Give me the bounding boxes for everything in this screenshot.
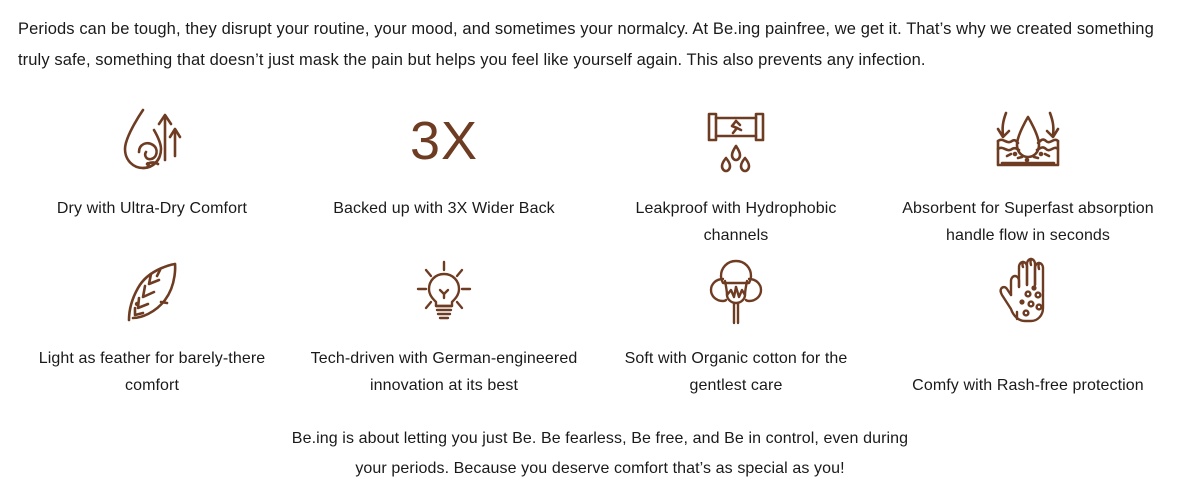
- feature-label: Light as feather for barely-there comfor…: [17, 345, 287, 399]
- intro-paragraph: Periods can be tough, they disrupt your …: [18, 14, 1182, 76]
- feature-label: Leakproof with Hydrophobic channels: [601, 195, 871, 249]
- feature-card-tech: Tech-driven with German-engineered innov…: [298, 252, 590, 407]
- feature-label: Dry with Ultra-Dry Comfort: [17, 195, 287, 222]
- feather-icon: [121, 252, 183, 332]
- 3x-text-badge: 3X: [410, 100, 478, 182]
- feature-label: Soft with Organic cotton for the gentles…: [601, 345, 871, 399]
- feature-label: Absorbent for Superfast absorption handl…: [893, 195, 1163, 249]
- water-droplet-evaporation-icon: [117, 100, 187, 182]
- feature-card-dry: Dry with Ultra-Dry Comfort: [6, 100, 298, 252]
- features-row-1: Dry with Ultra-Dry Comfort 3X Backed up …: [0, 100, 1200, 252]
- feature-label: Backed up with 3X Wider Back: [309, 195, 579, 222]
- feature-card-wider-back: 3X Backed up with 3X Wider Back: [298, 100, 590, 252]
- feature-card-absorbent: Absorbent for Superfast absorption handl…: [882, 100, 1174, 252]
- feature-card-soft: Soft with Organic cotton for the gentles…: [590, 252, 882, 407]
- footer-tagline: Be.ing is about letting you just Be. Be …: [0, 424, 1200, 484]
- feature-card-light: Light as feather for barely-there comfor…: [6, 252, 298, 407]
- footer-line-2: your periods. Because you deserve comfor…: [0, 454, 1200, 484]
- lightbulb-icon: [413, 252, 475, 332]
- feature-card-comfy: Comfy with Rash-free protection: [882, 252, 1174, 407]
- feature-card-leakproof: Leakproof with Hydrophobic channels: [590, 100, 882, 252]
- features-row-2: Light as feather for barely-there comfor…: [0, 252, 1200, 407]
- absorption-layers-icon: [990, 100, 1066, 182]
- footer-line-1: Be.ing is about letting you just Be. Be …: [0, 424, 1200, 454]
- feature-label: Tech-driven with German-engineered innov…: [309, 345, 579, 399]
- feature-label: Comfy with Rash-free protection: [893, 372, 1163, 399]
- hand-rash-icon: [998, 252, 1058, 332]
- leaking-pipe-icon: [705, 100, 767, 182]
- cotton-boll-icon: [703, 252, 769, 332]
- badge-3x-text: 3X: [410, 114, 478, 168]
- features-grid: Dry with Ultra-Dry Comfort 3X Backed up …: [0, 100, 1200, 407]
